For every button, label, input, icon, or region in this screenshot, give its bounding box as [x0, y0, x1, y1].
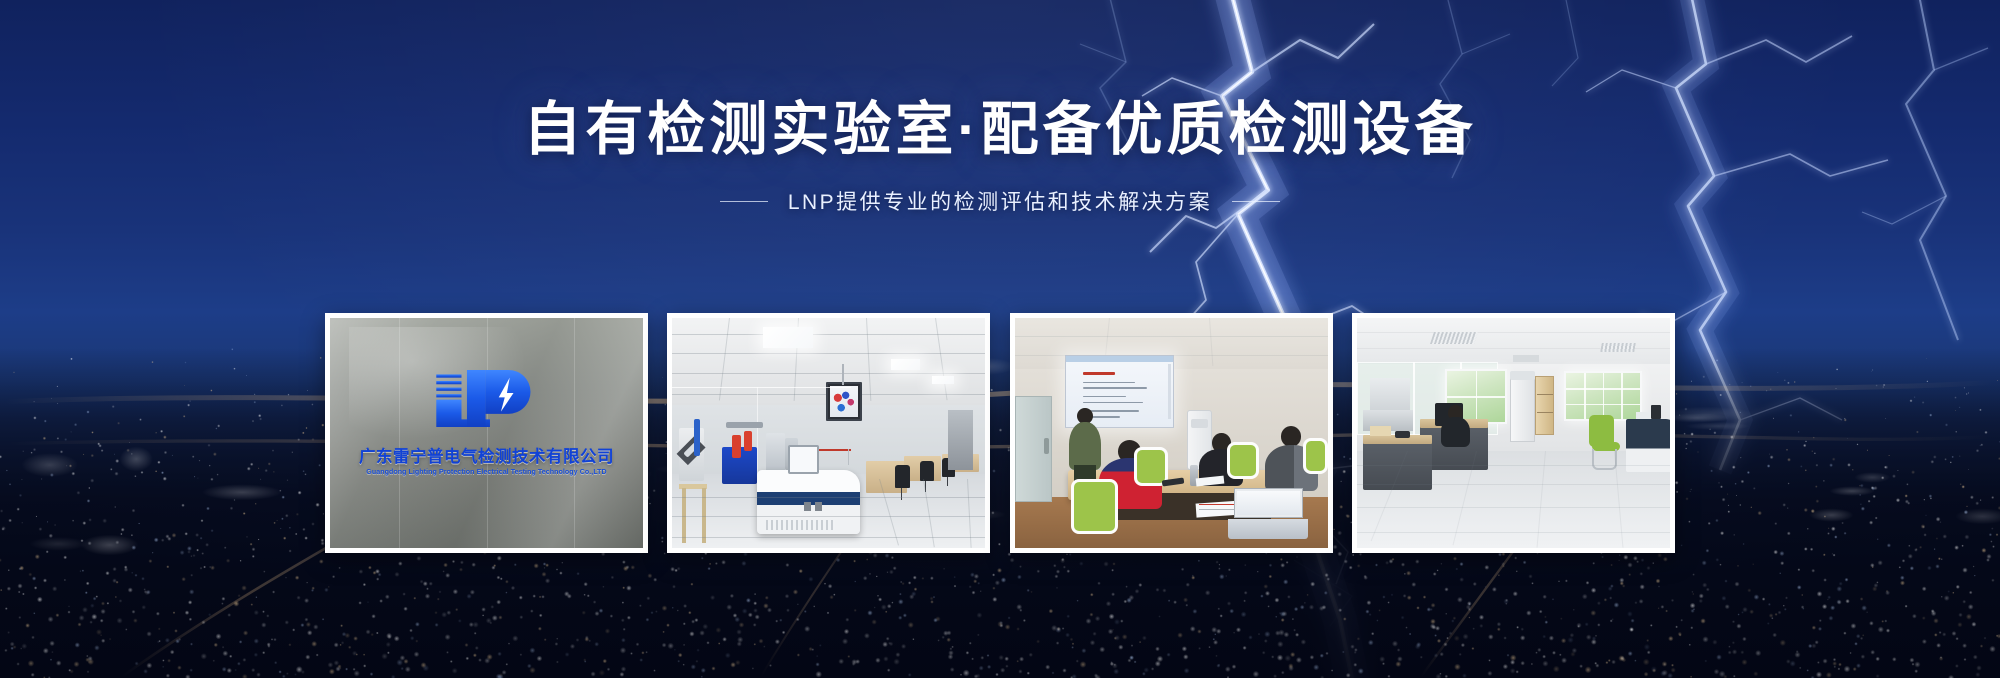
photo-card-strip: 广东雷宁普电气检测技术有限公司 Guangdong Lighting Prote…: [325, 313, 1675, 553]
photo-card-laboratory[interactable]: [667, 313, 990, 553]
ceiling-light: [891, 359, 919, 369]
meeting-chair: [1071, 479, 1118, 534]
floor-grid-line: [672, 537, 985, 538]
photo-meeting-room: [1015, 318, 1328, 548]
window-mullion: [1621, 373, 1623, 420]
rule-left-icon: [720, 201, 768, 202]
lnp-logo-icon: [433, 364, 543, 433]
paper-line: [1199, 504, 1233, 505]
window-mullion: [1566, 404, 1640, 406]
ceiling-diffuser: [1600, 343, 1636, 352]
rule-right-icon: [1232, 201, 1280, 202]
counter-device: [1651, 405, 1660, 419]
ceiling-diffuser: [1513, 355, 1538, 362]
meeting-chair: [1227, 442, 1258, 479]
partition-mullion: [1413, 362, 1415, 436]
window-mullion: [1603, 373, 1605, 420]
hv-column: [694, 419, 700, 456]
ceiling-grid-line: [1357, 332, 1670, 333]
ceiling-light: [763, 327, 813, 348]
photo-open-office: [1357, 318, 1670, 548]
ceiling-grid-line: [672, 353, 985, 354]
reception-counter: [1626, 419, 1670, 472]
lab-chair: [920, 461, 934, 482]
hv-bushing: [744, 431, 752, 452]
sign-company-en: Guangdong Lighting Protection Electrical…: [330, 469, 643, 476]
photo-card-office[interactable]: [1352, 313, 1675, 553]
glass-partition-mullion: [757, 387, 758, 484]
slide-heading: [1083, 372, 1115, 375]
monitor-mount: [842, 364, 844, 385]
meeting-scene: [1015, 318, 1328, 548]
desk-device: [1395, 431, 1411, 438]
panel-seam: [487, 318, 488, 548]
floor-grid-line: [672, 497, 985, 498]
cabinet-ac-top: [1510, 371, 1535, 380]
slide-toolbar: [1066, 356, 1174, 362]
visitor-chair-frame: [1592, 449, 1617, 470]
floor-grid-line: [1357, 532, 1670, 533]
console-slot: [804, 502, 811, 511]
sign-panel: 广东雷宁普电气检测技术有限公司 Guangdong Lighting Prote…: [330, 318, 643, 548]
floor-grid-line: [672, 516, 985, 517]
panel-seam: [574, 318, 575, 548]
window-mullion: [1447, 396, 1506, 398]
floor-grid-line: [1357, 465, 1670, 466]
subtitle-row: LNP提供专业的检测评估和技术解决方案: [0, 186, 2000, 216]
page-subtitle: LNP提供专业的检测评估和技术解决方案: [788, 186, 1212, 216]
desk-box: [1370, 426, 1392, 436]
ceiling-light: [932, 376, 954, 384]
presenter-body: [1069, 422, 1100, 470]
ceiling-grid-line: [1015, 336, 1328, 337]
storage-cabinet: [1510, 378, 1535, 442]
console-screen: [788, 445, 819, 475]
hero-text-block: 自有检测实验室·配备优质检测设备 LNP提供专业的检测评估和技术解决方案: [0, 96, 2000, 216]
office-window: [1564, 371, 1642, 422]
hv-busbar: [726, 422, 764, 429]
wooden-shelf: [1535, 376, 1554, 436]
ceiling-diffuser: [1430, 332, 1478, 344]
sign-company-cn: 广东雷宁普电气检测技术有限公司: [330, 443, 643, 467]
slide-scrollbar: [1168, 364, 1171, 418]
slide-text-line: [1083, 396, 1126, 398]
attendee-head: [1281, 426, 1301, 447]
page-title: 自有检测实验室·配备优质检测设备: [0, 96, 2000, 164]
lab-chair: [895, 465, 911, 488]
office-scene: [1357, 318, 1670, 548]
laptop-keyboard: [1228, 519, 1308, 539]
glass-partition-rail: [672, 387, 850, 388]
laptop: [1234, 488, 1303, 539]
photo-testing-laboratory: [672, 318, 985, 548]
panel-seam: [399, 318, 400, 548]
window-mullion: [1566, 388, 1640, 390]
window-mullion: [1584, 373, 1586, 420]
slide-text-line: [1083, 387, 1148, 389]
photo-card-company-sign[interactable]: 广东雷宁普电气检测技术有限公司 Guangdong Lighting Prote…: [325, 313, 648, 553]
laptop-screen: [1234, 488, 1303, 517]
photo-company-sign: 广东雷宁普电气检测技术有限公司 Guangdong Lighting Prote…: [330, 318, 643, 548]
door-handle-icon: [1044, 438, 1049, 454]
test-cabinet: [766, 433, 785, 474]
lab-scene: [672, 318, 985, 548]
slide-text-line: [1083, 382, 1135, 384]
meeting-chair: [1303, 438, 1328, 475]
shelf-divider: [1537, 394, 1553, 395]
console-vent: [766, 520, 835, 529]
floor-grid-line: [1357, 484, 1670, 485]
ceiling-grid-line: [672, 373, 985, 374]
safety-rail-post: [848, 449, 850, 465]
wall-monitor: [826, 382, 862, 421]
hv-bushing: [732, 435, 741, 458]
photo-card-meeting-room[interactable]: [1010, 313, 1333, 553]
slide-text-line: [1083, 402, 1143, 404]
worker-body: [1441, 417, 1469, 447]
floor-grid-line: [1357, 507, 1670, 508]
shelf-divider: [1537, 412, 1553, 413]
hero-banner: 自有检测实验室·配备优质检测设备 LNP提供专业的检测评估和技术解决方案: [0, 0, 2000, 678]
paper-line: [1199, 509, 1237, 510]
console-slot: [815, 502, 822, 511]
corridor-door: [948, 410, 973, 470]
